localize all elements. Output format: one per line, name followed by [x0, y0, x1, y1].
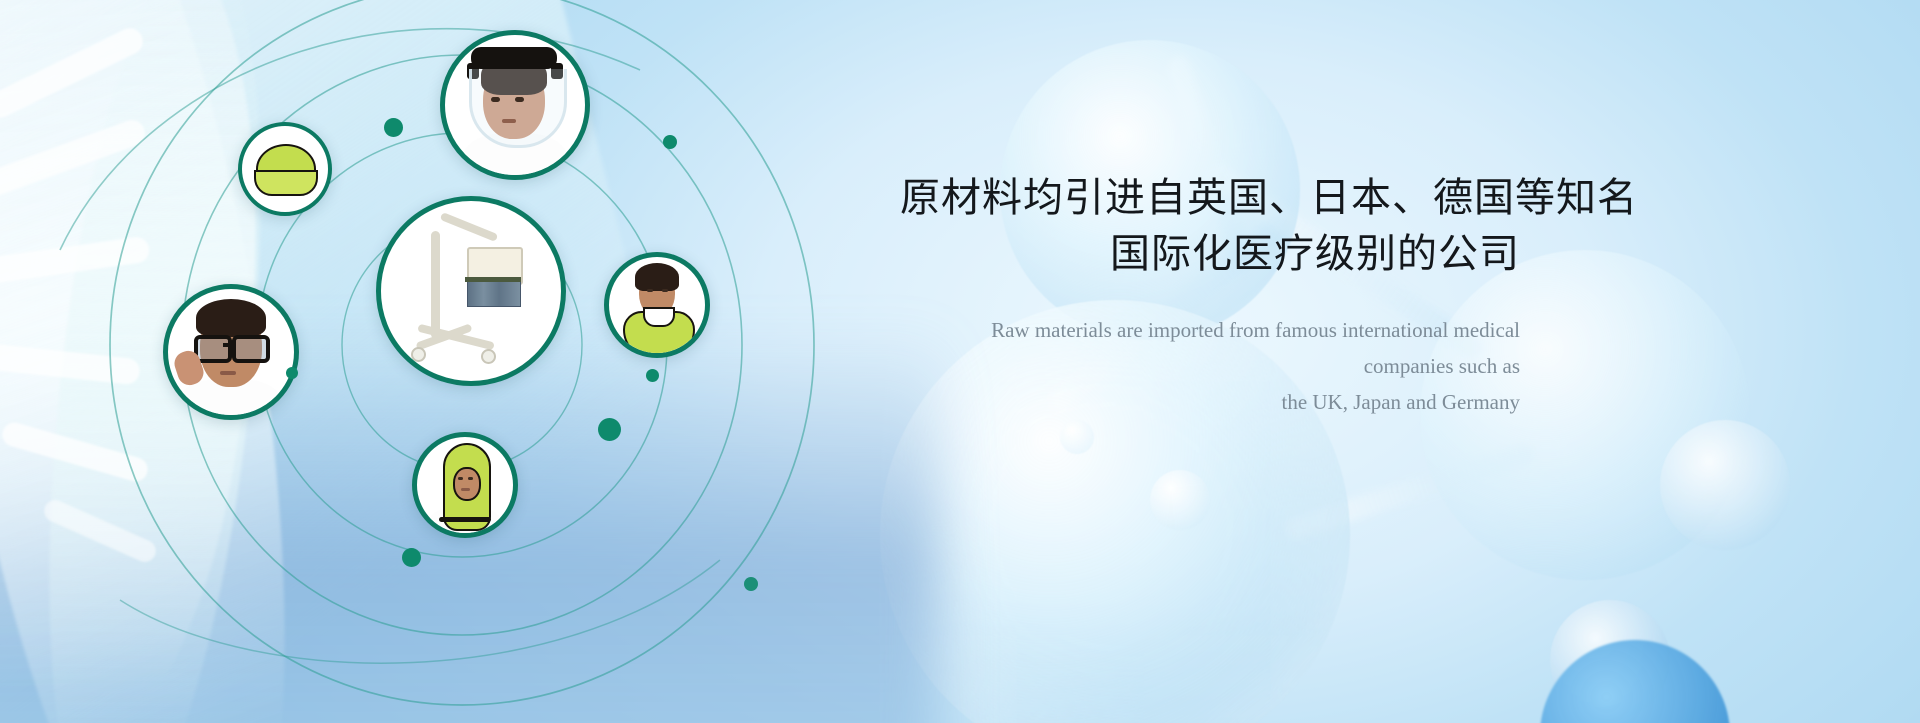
subtitle-line-1: Raw materials are imported from famous i…	[900, 312, 1520, 384]
mobile-xray-shield-art	[381, 201, 561, 381]
banner-stage: 原材料均引进自英国、日本、德国等知名 国际化医疗级别的公司 Raw materi…	[0, 0, 1920, 723]
subtitle-block: Raw materials are imported from famous i…	[900, 312, 1520, 420]
lead-cap-art	[242, 126, 328, 212]
accent-dot-2	[663, 135, 677, 149]
accent-dot-4	[646, 369, 659, 382]
bubble-woman-thyroid-collar[interactable]	[604, 252, 710, 358]
subtitle-line-2: the UK, Japan and Germany	[900, 384, 1520, 420]
copy-block: 原材料均引进自英国、日本、德国等知名 国际化医疗级别的公司 Raw materi…	[900, 170, 1520, 420]
accent-dot-6	[402, 548, 421, 567]
woman-thyroid-collar-art	[609, 257, 705, 353]
headline-line-2: 国际化医疗级别的公司	[900, 226, 1520, 282]
bubble-woman-radiation-hood[interactable]	[412, 432, 518, 538]
accent-dot-7	[744, 577, 758, 591]
headline-line-1: 原材料均引进自英国、日本、德国等知名	[900, 170, 1520, 226]
accent-dot-1	[384, 118, 403, 137]
accent-dot-3	[286, 367, 298, 379]
bubble-doctor-lead-glasses[interactable]	[163, 284, 299, 420]
doctor-face-shield-art	[445, 35, 585, 175]
woman-radiation-hood-art	[417, 437, 513, 533]
accent-dot-5	[598, 418, 621, 441]
bubble-mobile-xray-shield[interactable]	[376, 196, 566, 386]
bubble-lead-cap-product[interactable]	[238, 122, 332, 216]
doctor-lead-glasses-art	[168, 289, 294, 415]
bubble-doctor-face-shield[interactable]	[440, 30, 590, 180]
